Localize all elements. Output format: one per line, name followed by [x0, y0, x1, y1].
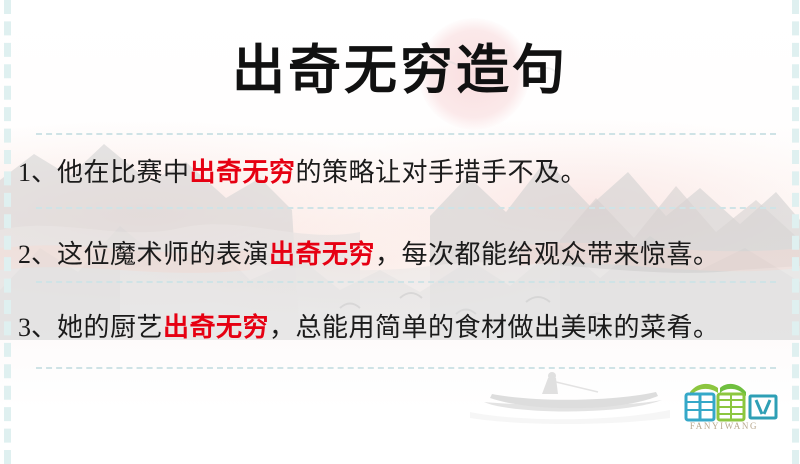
- sentence-1-keyword: 出奇无穷: [190, 158, 296, 187]
- sentence-3-after: ，总能用简单的食材做出美味的菜肴。: [269, 313, 720, 342]
- sentence-3-index: 3、: [18, 313, 57, 342]
- example-sentence-1: 1、他在比赛中出奇无穷的策略让对手措手不及。: [18, 156, 788, 190]
- example-sentence-3: 3、她的厨艺出奇无穷，总能用简单的食材做出美味的菜肴。: [18, 311, 788, 345]
- logo-caption: FANYIWANG: [668, 421, 780, 431]
- example-sentence-2: 2、这位魔术师的表演出奇无穷，每次都能给观众带来惊喜。: [18, 238, 788, 272]
- sentence-2-before: 这位魔术师的表演: [57, 240, 269, 269]
- fishing-boat-illustration: [470, 372, 670, 424]
- sentence-2-index: 2、: [18, 240, 57, 269]
- site-logo[interactable]: FANYIWANG: [668, 378, 780, 440]
- sentence-3-keyword: 出奇无穷: [163, 313, 269, 342]
- dashed-rule-1: [36, 133, 776, 135]
- dashed-rule-2: [36, 207, 776, 209]
- sentence-card-page: 出奇无穷造句 1、他在比赛中出奇无穷的策略让对手措手不及。 2、这位魔术师的表演…: [0, 0, 800, 464]
- sentence-2-keyword: 出奇无穷: [269, 240, 375, 269]
- mountains-illustration: [0, 120, 800, 340]
- sentence-3-before: 她的厨艺: [57, 313, 163, 342]
- fanyiwang-logo-icon: [668, 378, 780, 424]
- sentence-1-index: 1、: [18, 158, 57, 187]
- sentence-2-after: ，每次都能给观众带来惊喜。: [375, 240, 720, 269]
- sentence-1-before: 他在比赛中: [57, 158, 190, 187]
- dashed-rule-3: [36, 281, 776, 283]
- sentence-1-after: 的策略让对手措手不及。: [296, 158, 588, 187]
- page-title: 出奇无穷造句: [0, 40, 800, 102]
- dashed-rule-4: [36, 367, 776, 369]
